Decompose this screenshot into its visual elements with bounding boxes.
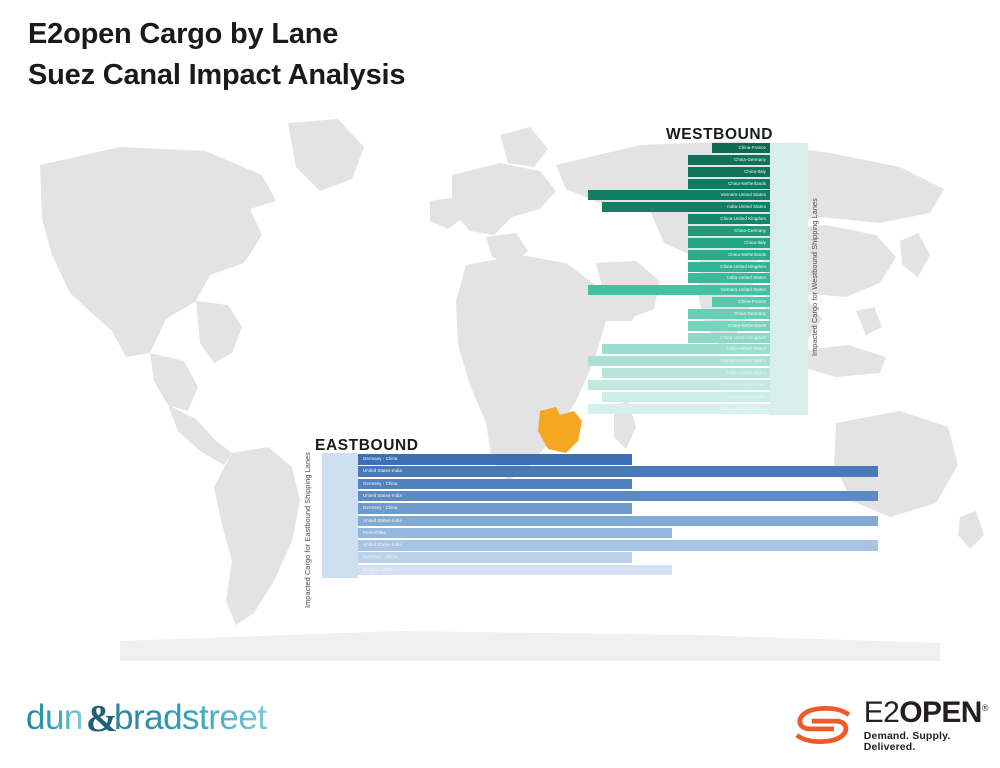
eastbound-bar	[358, 540, 878, 551]
e2open-tagline: Demand. Supply. Delivered.	[864, 731, 1000, 752]
eastbound-bar-row: Germany - China	[358, 552, 632, 563]
svg-text:dun: dun	[26, 698, 83, 737]
e2open-mark-icon	[793, 704, 853, 746]
eastbound-bar-label: Germany - China	[363, 454, 398, 465]
dun-bradstreet-logo: dun & bradstreet dun & bradstreet	[26, 697, 270, 744]
eastbound-bar	[358, 454, 632, 465]
eastbound-bar	[358, 528, 672, 539]
eastbound-bar-row: Germany - China	[358, 503, 632, 514]
eastbound-bar	[358, 516, 878, 527]
eastbound-bar-label: Germany - China	[363, 552, 398, 563]
eastbound-bar-row: United States-India	[358, 516, 878, 527]
eastbound-bar-label: Germany - China	[363, 503, 398, 514]
eastbound-bar-label: Peru-China	[363, 528, 386, 539]
eastbound-axis-title: Impacted Cargo for Eastbound Shipping La…	[303, 447, 312, 612]
eastbound-bar	[358, 503, 632, 514]
title-line-2: Suez Canal Impact Analysis	[28, 55, 405, 96]
eastbound-bar	[358, 466, 878, 477]
eastbound-bar-label: Germany - China	[363, 479, 398, 490]
eastbound-bar-label: United States-India	[363, 540, 402, 551]
e2open-registered-mark: ®	[982, 703, 988, 713]
eastbound-bar-row: Germany - China	[358, 479, 632, 490]
e2open-wordmark: E2OPEN®	[864, 698, 1000, 728]
eastbound-bar-label: United States-India	[363, 466, 402, 477]
e2open-logo: E2OPEN® Demand. Supply. Delivered.	[793, 698, 1000, 752]
eastbound-bar-row: United States-India	[358, 466, 878, 477]
eastbound-bar-row: United States-India	[358, 491, 878, 502]
eastbound-bar-row: United States-India	[358, 540, 878, 551]
eastbound-bar-row: Germany - China	[358, 454, 632, 465]
eastbound-chart: EASTBOUND Impacted Cargo for Eastbound S…	[0, 0, 1000, 768]
eastbound-bar-label: Belgium-China	[363, 565, 393, 576]
eastbound-bar	[358, 479, 632, 490]
eastbound-bar-row: Peru-China	[358, 528, 672, 539]
svg-text:&: &	[86, 698, 118, 739]
eastbound-bar	[358, 491, 878, 502]
eastbound-bar-label: United States-India	[363, 491, 402, 502]
eastbound-bar	[358, 565, 672, 576]
page-title: E2open Cargo by Lane Suez Canal Impact A…	[28, 14, 405, 96]
e2open-name-suffix: OPEN	[899, 696, 982, 729]
eastbound-bar-row: Belgium-China	[358, 565, 672, 576]
e2open-name-prefix: E2	[864, 696, 900, 729]
eastbound-category-panel	[322, 453, 358, 578]
eastbound-bar-label: United States-India	[363, 516, 402, 527]
title-line-1: E2open Cargo by Lane	[28, 14, 405, 55]
svg-text:bradstreet: bradstreet	[114, 698, 267, 737]
eastbound-bar	[358, 552, 632, 563]
